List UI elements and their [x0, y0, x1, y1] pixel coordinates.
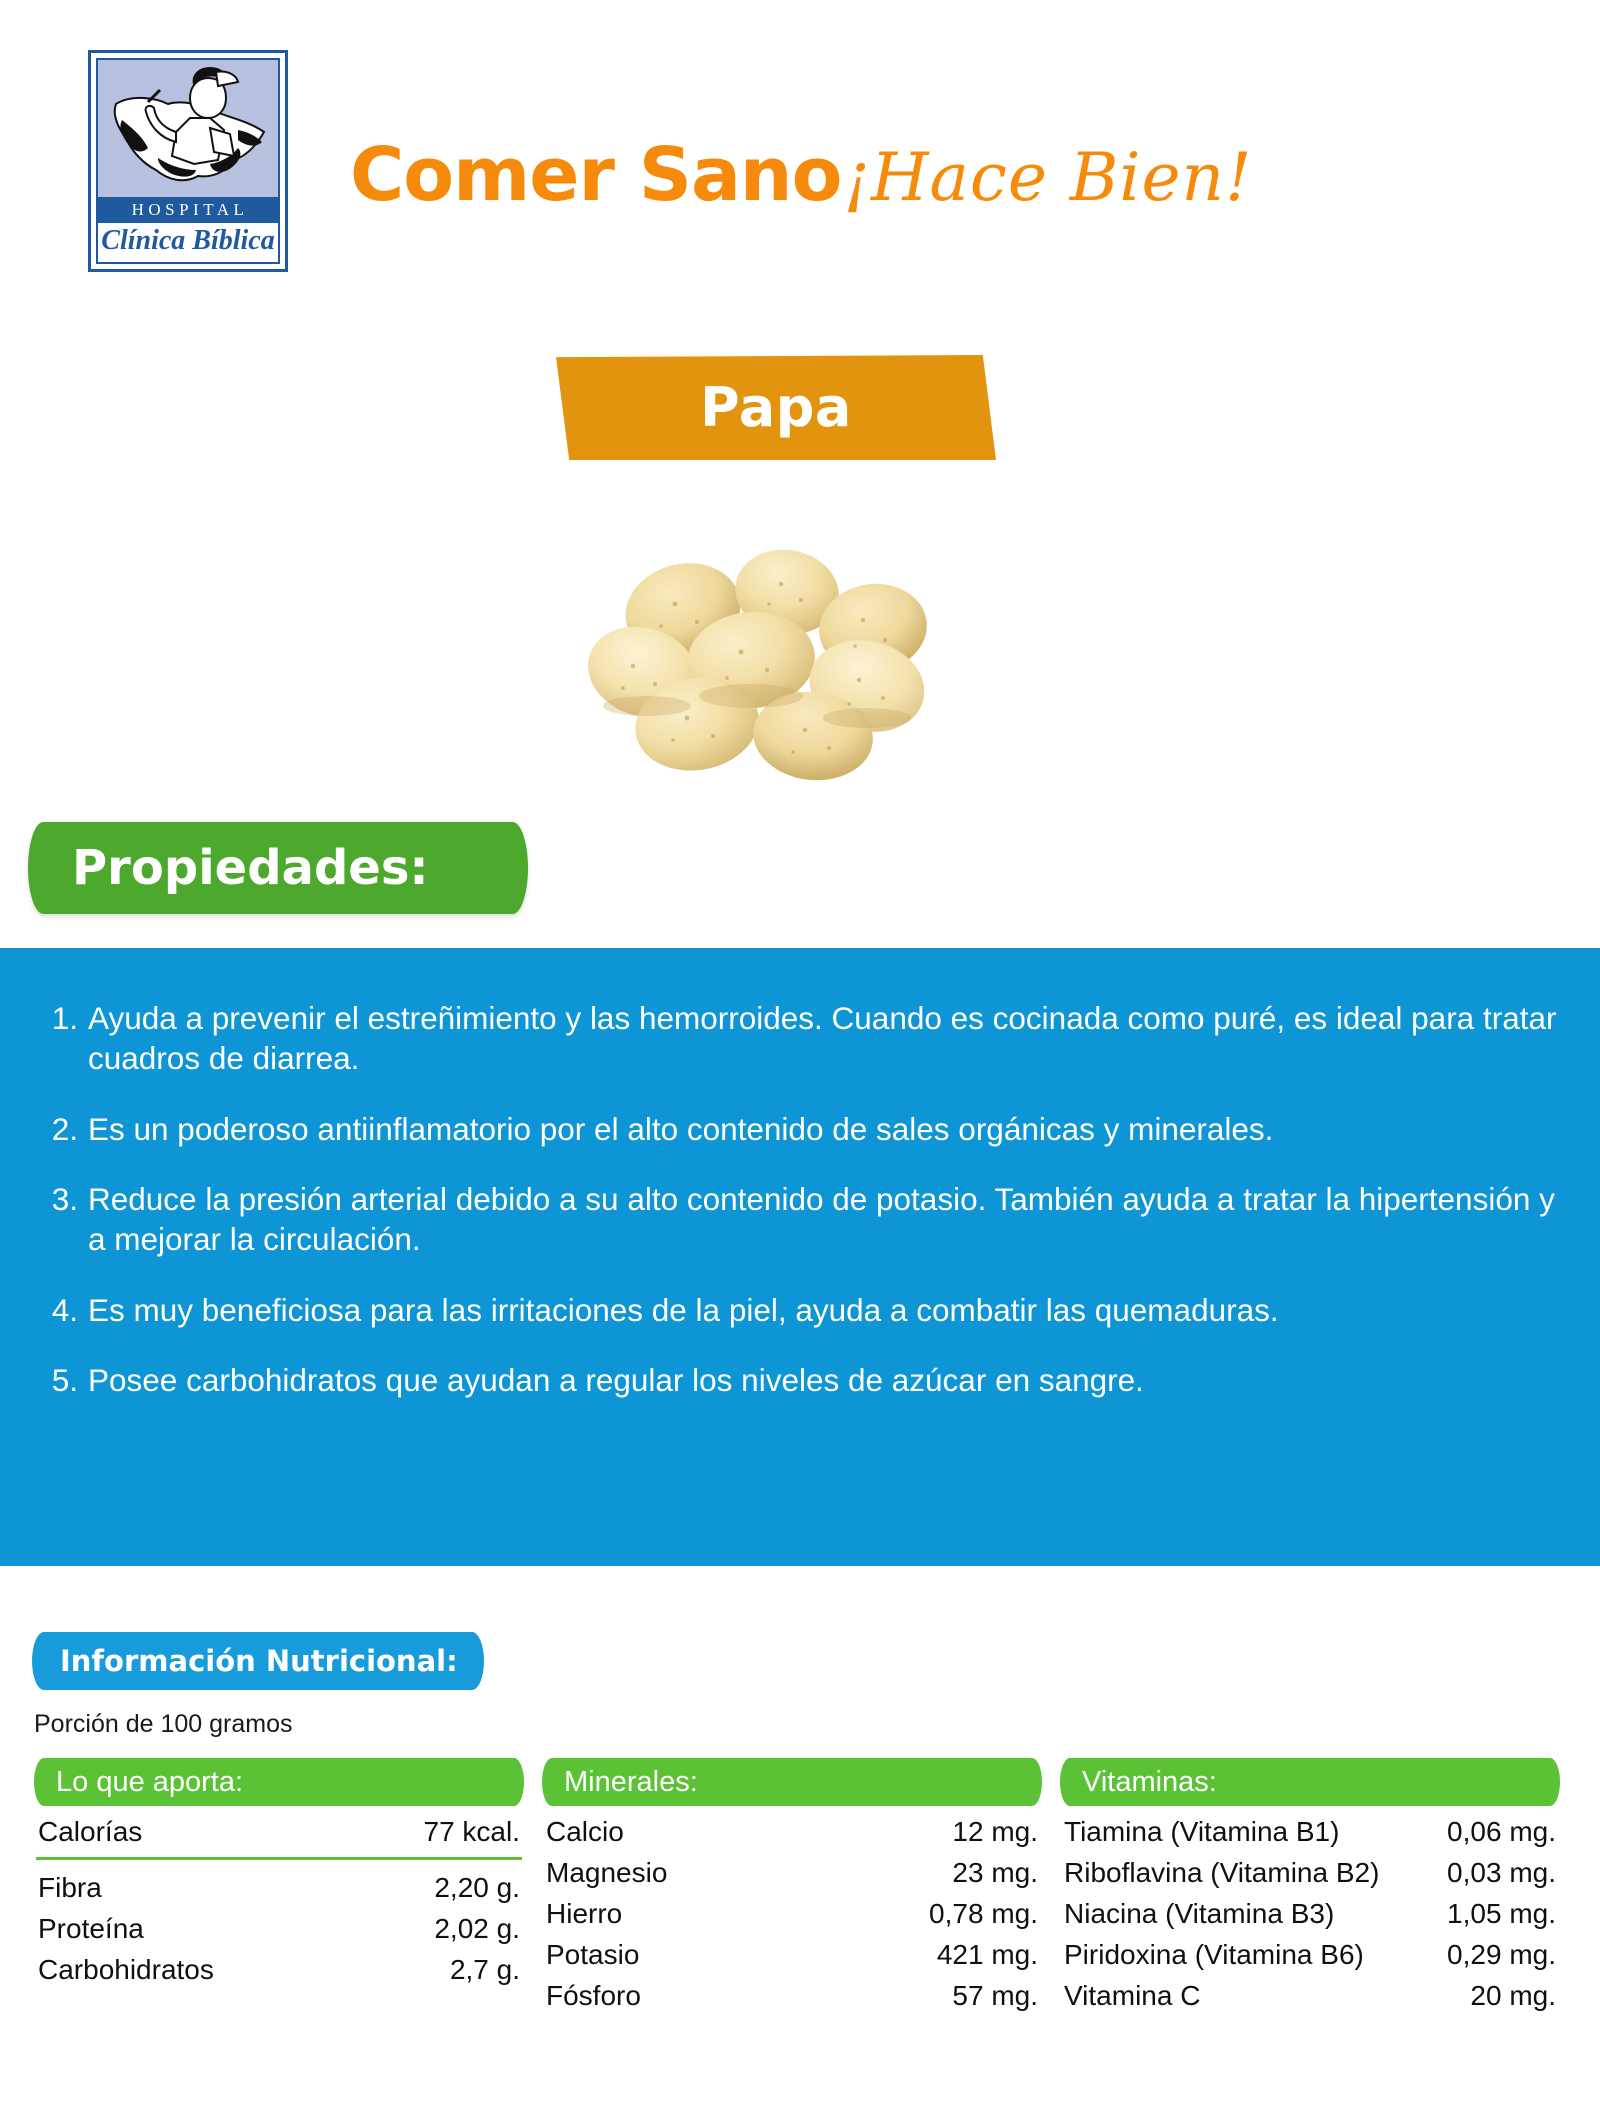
- row-label: Fósforo: [546, 1978, 641, 2015]
- title-main-text: Comer Sano: [350, 132, 841, 218]
- table-row: Fósforo 57 mg.: [542, 1976, 1042, 2017]
- list-item-text: Reduce la presión arterial debido a su a…: [88, 1179, 1563, 1260]
- nutrition-columns: Lo que aporta: Calorías 77 kcal. Fibra 2…: [34, 1758, 1574, 2017]
- hospital-logo: HOSPITAL Clínica Bíblica: [88, 50, 288, 272]
- row-label: Niacina (Vitamina B3): [1064, 1896, 1334, 1933]
- infographic-page: HOSPITAL Clínica Bíblica Comer Sano ¡Hac…: [0, 0, 1600, 2113]
- row-value: 2,02 g.: [390, 1911, 520, 1948]
- list-item-text: Ayuda a prevenir el estreñimiento y las …: [88, 998, 1563, 1079]
- list-item-text: Es un poderoso antiinflamatorio por el a…: [88, 1109, 1563, 1149]
- header: HOSPITAL Clínica Bíblica Comer Sano ¡Hac…: [0, 0, 1600, 330]
- row-label: Calorías: [38, 1814, 142, 1851]
- row-value: 23 mg.: [903, 1855, 1038, 1892]
- column-header-label: Minerales:: [564, 1766, 698, 1799]
- row-value: 12 mg.: [903, 1814, 1038, 1851]
- list-item-number: 4.: [40, 1290, 78, 1330]
- list-item-text: Es muy beneficiosa para las irritaciones…: [88, 1290, 1563, 1330]
- nutrition-column-aporta: Lo que aporta: Calorías 77 kcal. Fibra 2…: [34, 1758, 524, 2017]
- list-item-text: Posee carbohidratos que ayudan a regular…: [88, 1360, 1563, 1400]
- nutrition-heading-text: Información Nutricional:: [60, 1644, 458, 1678]
- table-row: Niacina (Vitamina B3) 1,05 mg.: [1060, 1894, 1560, 1935]
- row-value: 77 kcal.: [390, 1814, 520, 1851]
- nurse-map-logo-icon: [98, 60, 278, 197]
- row-label: Riboflavina (Vitamina B2): [1064, 1855, 1379, 1892]
- propiedades-heading-text: Propiedades:: [72, 840, 429, 896]
- row-label: Hierro: [546, 1896, 622, 1933]
- table-row: Riboflavina (Vitamina B2) 0,03 mg.: [1060, 1853, 1560, 1894]
- list-item: 4. Es muy beneficiosa para las irritacio…: [40, 1290, 1570, 1330]
- table-row: Potasio 421 mg.: [542, 1935, 1042, 1976]
- column-header-aporta: Lo que aporta:: [34, 1758, 524, 1806]
- row-label: Piridoxina (Vitamina B6): [1064, 1937, 1364, 1974]
- logo-frame: HOSPITAL Clínica Bíblica: [96, 58, 280, 264]
- list-item-number: 5.: [40, 1360, 78, 1400]
- table-row: Piridoxina (Vitamina B6) 0,29 mg.: [1060, 1935, 1560, 1976]
- row-label: Calcio: [546, 1814, 624, 1851]
- row-label: Vitamina C: [1064, 1978, 1200, 2015]
- row-label: Magnesio: [546, 1855, 667, 1892]
- list-item-number: 2.: [40, 1109, 78, 1149]
- title-script-text: ¡Hace Bien!: [843, 139, 1252, 216]
- row-label: Carbohidratos: [38, 1952, 214, 1989]
- table-row: Calcio 12 mg.: [542, 1812, 1042, 1853]
- list-item-number: 1.: [40, 998, 78, 1038]
- nutrition-column-vitaminas: Vitaminas: Tiamina (Vitamina B1) 0,06 mg…: [1060, 1758, 1560, 2017]
- column-header-vitaminas: Vitaminas:: [1060, 1758, 1560, 1806]
- column-header-label: Lo que aporta:: [56, 1766, 243, 1799]
- row-label: Tiamina (Vitamina B1): [1064, 1814, 1339, 1851]
- page-title: Comer Sano ¡Hace Bien!: [350, 132, 1253, 218]
- logo-clinica-text: Clínica Bíblica: [98, 223, 278, 262]
- row-label: Fibra: [38, 1870, 102, 1907]
- table-row: Carbohidratos 2,7 g.: [34, 1950, 524, 1991]
- column-header-label: Vitaminas:: [1082, 1766, 1217, 1799]
- table-row: Fibra 2,20 g.: [34, 1868, 524, 1909]
- list-item: 5. Posee carbohidratos que ayudan a regu…: [40, 1360, 1570, 1400]
- nutrition-column-minerales: Minerales: Calcio 12 mg. Magnesio 23 mg.…: [542, 1758, 1042, 2017]
- row-value: 57 mg.: [903, 1978, 1038, 2015]
- table-row: Magnesio 23 mg.: [542, 1853, 1042, 1894]
- row-value: 1,05 mg.: [1436, 1896, 1556, 1933]
- row-value: 20 mg.: [1436, 1978, 1556, 2015]
- divider: [36, 1857, 522, 1860]
- row-value: 2,20 g.: [390, 1870, 520, 1907]
- row-value: 2,7 g.: [390, 1952, 520, 1989]
- product-banner: Papa: [556, 355, 996, 460]
- row-value: 0,29 mg.: [1436, 1937, 1556, 1974]
- row-value: 0,78 mg.: [903, 1896, 1038, 1933]
- propiedades-list: 1. Ayuda a prevenir el estreñimiento y l…: [0, 948, 1600, 1566]
- row-value: 0,06 mg.: [1436, 1814, 1556, 1851]
- column-header-minerales: Minerales:: [542, 1758, 1042, 1806]
- list-item: 2. Es un poderoso antiinflamatorio por e…: [40, 1109, 1570, 1149]
- list-item-number: 3.: [40, 1179, 78, 1219]
- row-label: Potasio: [546, 1937, 639, 1974]
- nutrition-heading: Información Nutricional:: [32, 1632, 484, 1690]
- list-item: 1. Ayuda a prevenir el estreñimiento y l…: [40, 998, 1570, 1079]
- table-row: Proteína 2,02 g.: [34, 1909, 524, 1950]
- portion-note: Porción de 100 gramos: [34, 1710, 292, 1739]
- row-value: 421 mg.: [903, 1937, 1038, 1974]
- propiedades-heading: Propiedades:: [28, 822, 528, 914]
- list-item: 3. Reduce la presión arterial debido a s…: [40, 1179, 1570, 1260]
- logo-hospital-text: HOSPITAL: [98, 197, 278, 224]
- product-name: Papa: [556, 355, 996, 460]
- row-value: 0,03 mg.: [1436, 1855, 1556, 1892]
- row-label: Proteína: [38, 1911, 144, 1948]
- table-row: Tiamina (Vitamina B1) 0,06 mg.: [1060, 1812, 1560, 1853]
- table-row: Hierro 0,78 mg.: [542, 1894, 1042, 1935]
- potato-image: [555, 500, 975, 800]
- table-row: Calorías 77 kcal.: [34, 1812, 524, 1853]
- table-row: Vitamina C 20 mg.: [1060, 1976, 1560, 2017]
